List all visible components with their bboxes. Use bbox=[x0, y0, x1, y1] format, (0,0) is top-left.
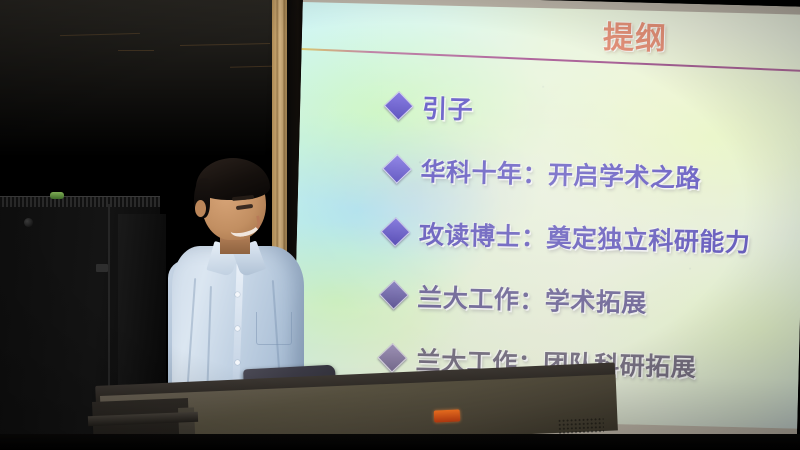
lecture-photo: 提纲 引子 华科十年：开启学术之路 攻读博士：奠定独立科研能力 兰大 bbox=[0, 0, 800, 450]
rack-green-object bbox=[50, 192, 64, 199]
floor-shadow bbox=[0, 434, 800, 450]
slide-bullet-list: 引子 华科十年：开启学术之路 攻读博士：奠定独立科研能力 兰大工作：学术拓展 兰 bbox=[381, 74, 800, 400]
rack-latch bbox=[96, 264, 108, 272]
shirt-button bbox=[235, 292, 240, 297]
speaker-smile bbox=[229, 215, 263, 238]
list-item-label: 引子 bbox=[422, 89, 474, 126]
slide-title: 提纲 bbox=[603, 12, 668, 59]
diamond-bullet-icon bbox=[379, 280, 409, 310]
shirt-button bbox=[235, 326, 240, 331]
list-item: 引子 bbox=[387, 74, 800, 148]
rack-knob bbox=[24, 218, 33, 227]
diamond-bullet-icon bbox=[381, 217, 411, 247]
list-item: 攻读博士：奠定独立科研能力 bbox=[384, 200, 800, 274]
diamond-bullet-icon bbox=[377, 343, 407, 373]
shirt-pocket bbox=[256, 312, 292, 345]
equipment-rack-vent bbox=[0, 196, 160, 207]
list-item: 兰大工作：学术拓展 bbox=[383, 263, 800, 337]
list-item-label: 华科十年：开启学术之路 bbox=[420, 152, 701, 195]
diamond-bullet-icon bbox=[382, 154, 412, 184]
list-item-label: 兰大工作：学术拓展 bbox=[417, 277, 647, 319]
lectern-emblem bbox=[434, 409, 460, 422]
list-item-label: 攻读博士：奠定独立科研能力 bbox=[419, 215, 751, 259]
title-divider-rule bbox=[302, 48, 800, 72]
shirt-button bbox=[235, 360, 240, 365]
list-item: 华科十年：开启学术之路 bbox=[386, 137, 800, 211]
speaker-ear bbox=[195, 200, 206, 217]
diamond-bullet-icon bbox=[384, 91, 414, 121]
